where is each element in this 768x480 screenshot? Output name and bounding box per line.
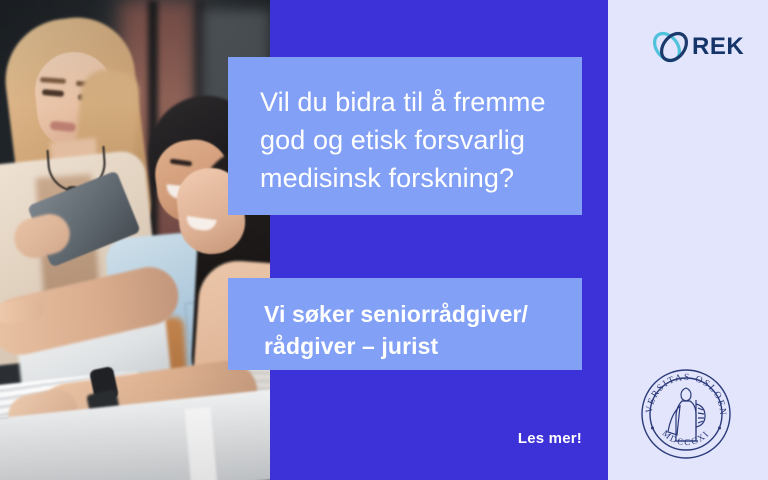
svg-text:UNIVERSITAS OSLOENSIS: UNIVERSITAS OSLOENSIS	[638, 366, 727, 417]
uio-seal-graphic: UNIVERSITAS OSLOENSIS MDCCCXI	[638, 366, 734, 462]
rek-logo: REK	[650, 26, 742, 68]
rek-wordmark: REK	[692, 32, 744, 62]
question-headline-box: Vil du bidra til å fremme god og etisk f…	[228, 57, 582, 215]
position-headline-box: Vi søker seniorrådgiver/ rådgiver – juri…	[228, 278, 582, 370]
question-line-2: god og etisk forsvarlig	[260, 121, 554, 159]
uio-seal: UNIVERSITAS OSLOENSIS MDCCCXI	[638, 366, 734, 462]
question-line-3: medisinsk forskning?	[260, 159, 554, 197]
recruitment-banner: REK UNIVERSITAS OSLOENSIS MDCCCXI	[0, 0, 768, 480]
interlocking-rings-icon	[650, 26, 692, 68]
position-line-2: rådgiver – jurist	[264, 330, 562, 362]
read-more-link[interactable]: Les mer!	[380, 430, 582, 447]
question-line-1: Vil du bidra til å fremme	[260, 83, 554, 121]
position-line-1: Vi søker seniorrådgiver/	[264, 298, 562, 330]
